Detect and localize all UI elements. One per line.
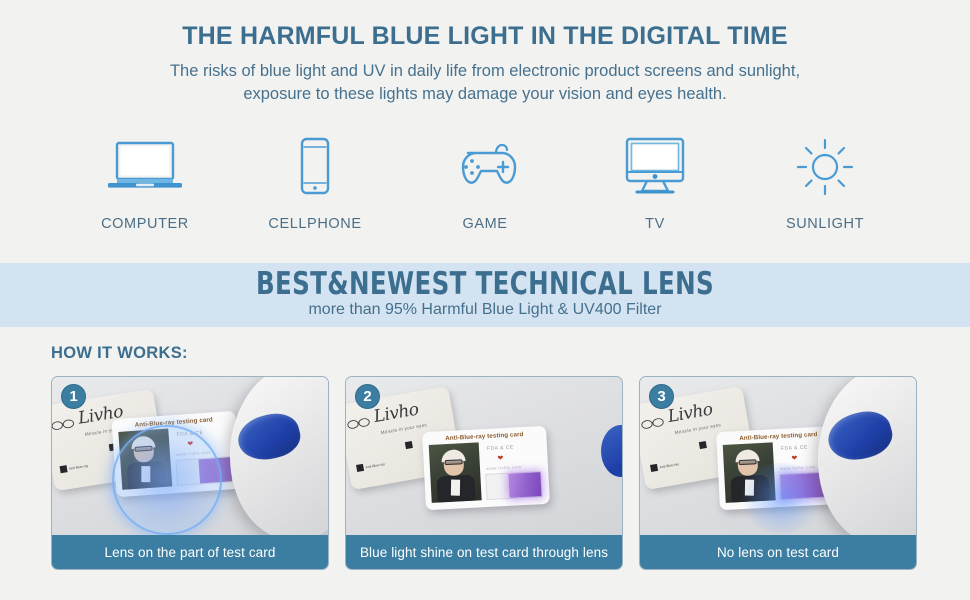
laptop-icon: [60, 134, 230, 200]
brand-mark-label: Anti Blue-ray: [365, 462, 385, 469]
icon-item-sunlight: SUNLIGHT: [740, 134, 910, 232]
test-card-swatch: [485, 471, 542, 500]
step-caption: Blue light shine on test card through le…: [346, 535, 622, 569]
lens-overlay: [112, 425, 222, 535]
heart-icon: ❤: [497, 455, 503, 462]
test-card-title: Anti-Blue-ray testing card: [422, 430, 546, 443]
icon-item-game: GAME: [400, 134, 570, 232]
brand-mark-label: Anti Blue-ray: [659, 462, 679, 469]
test-card-portrait: [429, 442, 482, 503]
brand-name: Livho: [372, 400, 420, 428]
icon-label-computer: COMPUTER: [60, 216, 230, 232]
promo-page: THE HARMFUL BLUE LIGHT IN THE DIGITAL TI…: [0, 0, 970, 600]
icon-item-cellphone: CELLPHONE: [230, 134, 400, 232]
step-number-badge: 3: [649, 384, 674, 409]
icon-label-tv: TV: [570, 216, 740, 232]
banner-title: BEST&NEWEST TECHNICAL LENS: [58, 263, 912, 302]
banner-subtitle: more than 95% Harmful Blue Light & UV400…: [0, 301, 970, 319]
brand-mark-label: Anti Blue-ray: [69, 464, 89, 471]
step-photo: Livho Miracle in your eyes Anti Blue-ray…: [346, 377, 622, 535]
blue-light-glow: [736, 463, 826, 533]
how-it-works-card: Livho Miracle in your eyes Anti Blue-ray…: [345, 376, 623, 570]
how-it-works-card-list: Livho Miracle in your eyes Anti Blue-ray…: [51, 376, 919, 570]
icon-item-tv: TV: [570, 134, 740, 232]
brand-qr-mark-2: [699, 441, 707, 449]
icon-label-sunlight: SUNLIGHT: [740, 216, 910, 232]
smartphone-icon: [230, 134, 400, 200]
brand-name: Livho: [666, 400, 714, 428]
icon-label-game: GAME: [400, 216, 570, 232]
sun-icon: [740, 134, 910, 200]
step-caption: Lens on the part of test card: [52, 535, 328, 569]
test-card: Anti-Blue-ray testing card FDA & CE ❤ ww…: [422, 426, 550, 510]
test-card-cert: FDA & CE: [781, 445, 808, 452]
how-it-works-card: Livho Miracle in your eyes Anti Blue-ray…: [639, 376, 917, 570]
monitor-icon: [570, 134, 740, 200]
hero-subtitle: The risks of blue light and UV in daily …: [0, 60, 970, 107]
glasses-logo-icon: [346, 416, 374, 431]
device-icon-row: COMPUTER CELLPHONE: [0, 134, 970, 232]
how-it-works-card: Livho Miracle in your eyes Anti Blue-ray…: [51, 376, 329, 570]
glasses-logo-icon: [640, 416, 668, 431]
brand-qr-mark: [650, 464, 658, 472]
step-number-badge: 1: [61, 384, 86, 409]
hero-subtitle-line-1: The risks of blue light and UV in daily …: [170, 62, 800, 80]
step-number-badge: 2: [355, 384, 380, 409]
test-card-url: www.livho.com: [486, 464, 522, 471]
technical-lens-banner: BEST&NEWEST TECHNICAL LENS more than 95%…: [0, 263, 970, 327]
brand-qr-mark-2: [405, 441, 413, 449]
icon-label-cellphone: CELLPHONE: [230, 216, 400, 232]
hero-subtitle-line-2: exposure to these lights may damage your…: [0, 83, 970, 106]
glasses-logo-icon: [52, 417, 78, 432]
blue-lens-holder: [601, 425, 622, 477]
step-photo: Livho Miracle in your eyes Anti Blue-ray…: [640, 377, 916, 535]
hero-section: THE HARMFUL BLUE LIGHT IN THE DIGITAL TI…: [0, 0, 970, 107]
step-caption: No lens on test card: [640, 535, 916, 569]
how-it-works-label: HOW IT WORKS:: [51, 344, 188, 363]
brand-qr-mark: [356, 464, 364, 472]
gamepad-icon: [400, 134, 570, 200]
page-title: THE HARMFUL BLUE LIGHT IN THE DIGITAL TI…: [0, 22, 970, 51]
heart-icon: ❤: [791, 455, 797, 462]
brand-qr-mark: [60, 465, 68, 473]
icon-item-computer: COMPUTER: [60, 134, 230, 232]
test-card-cert: FDA & CE: [487, 445, 514, 452]
step-photo: Livho Miracle in your eyes Anti Blue-ray…: [52, 377, 328, 535]
